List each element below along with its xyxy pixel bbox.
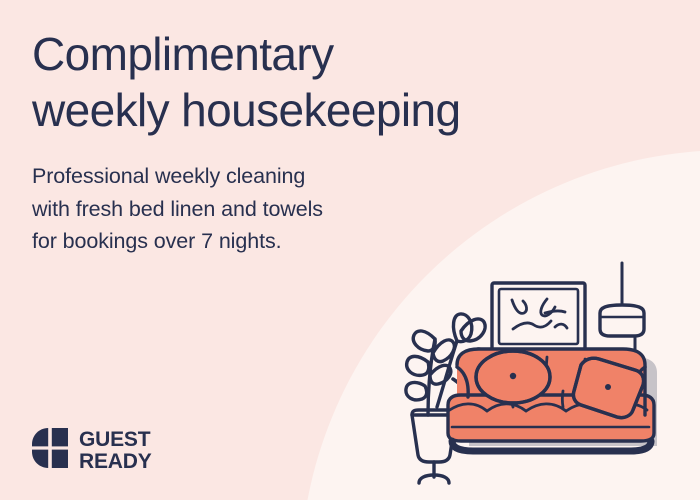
subcopy: Professional weekly cleaning with fresh … [32, 160, 452, 258]
logo-word-guest: GUEST [79, 429, 152, 450]
living-room-illustration [395, 255, 695, 500]
headline: Complimentary weekly housekeeping [32, 26, 632, 138]
guestready-mark-icon [32, 428, 68, 473]
logo-word-ready: READY [79, 451, 152, 472]
banner-content: Complimentary weekly housekeeping Profes… [0, 0, 700, 500]
logo-wordmark: GUEST READY [79, 429, 152, 472]
brand-logo: GUEST READY [32, 428, 152, 473]
round-cushion-icon [476, 351, 550, 403]
pendant-lamp-icon [600, 263, 644, 353]
promo-banner: Complimentary weekly housekeeping Profes… [0, 0, 700, 500]
framed-wall-art-icon [492, 283, 585, 351]
